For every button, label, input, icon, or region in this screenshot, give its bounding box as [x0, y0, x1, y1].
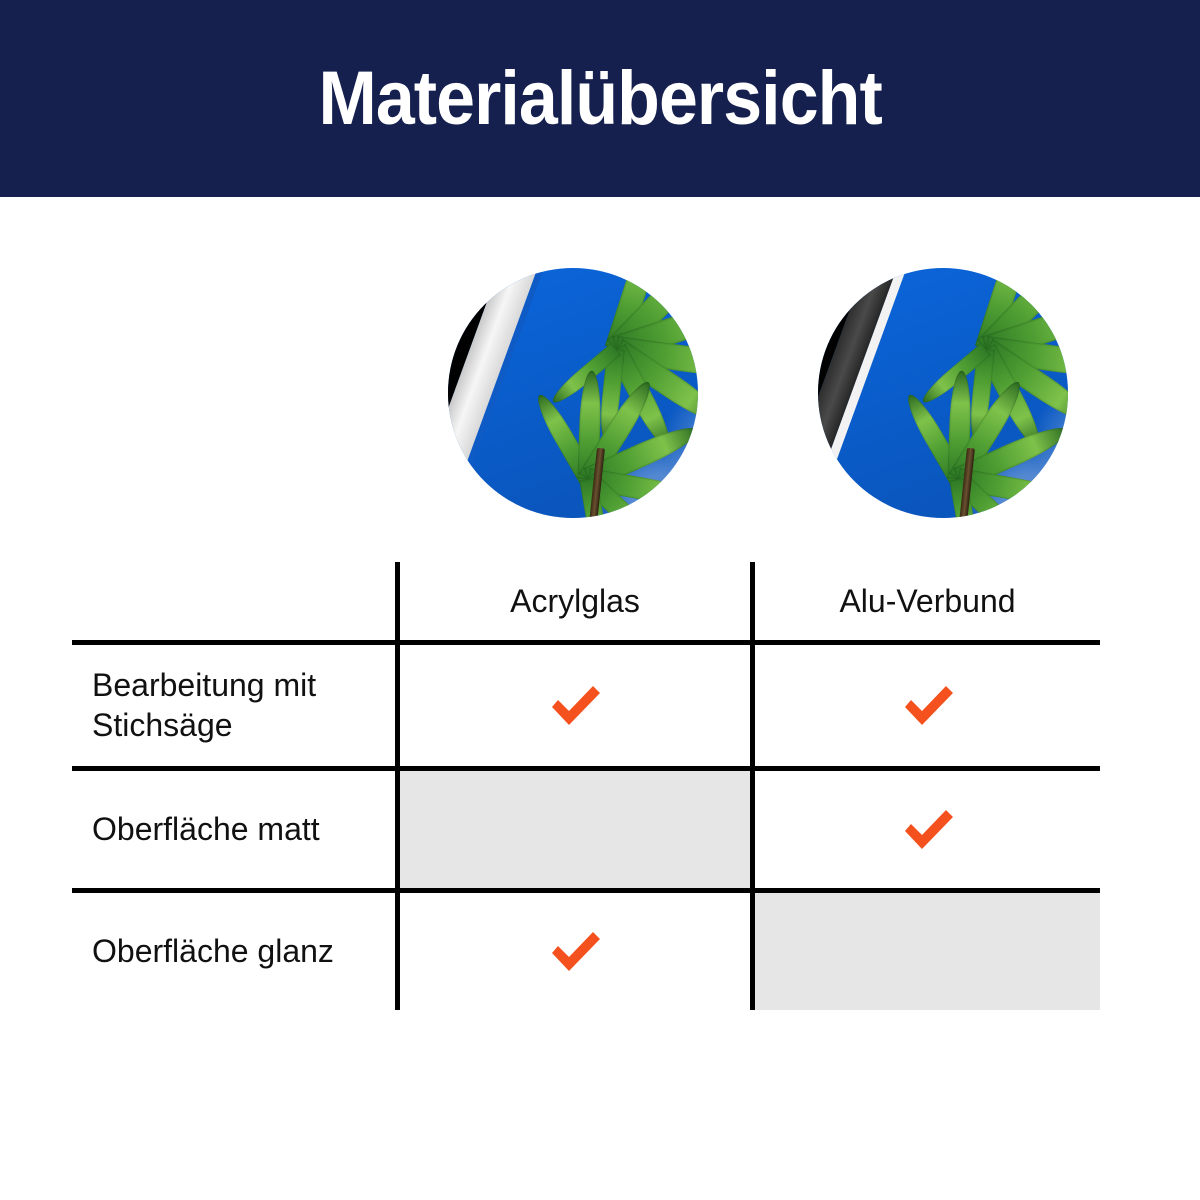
material-overview-page: Materialübersicht: [0, 0, 1200, 1200]
alu-verbund-thumbnail: [818, 268, 1068, 518]
acrylglas-artwork: [448, 268, 698, 518]
cell-oberflaeche-glanz-alu-verbund: [755, 893, 1100, 1010]
row-label-bearbeitung-mit-stichsaege: Bearbeitung mit Stichsäge: [72, 645, 395, 766]
row-label-text: Oberfläche matt: [92, 810, 320, 849]
row-label-oberflaeche-glanz: Oberfläche glanz: [72, 893, 395, 1010]
row-label-line-1: Bearbeitung mit: [92, 666, 316, 705]
column-header-label: Acrylglas: [510, 583, 640, 620]
palm-crown-lower: [863, 403, 1053, 518]
row-label-text: Oberfläche glanz: [92, 932, 334, 971]
palm-crown-upper: [518, 273, 698, 403]
check-mark-icon: [544, 927, 606, 977]
cell-bearbeitung-alu-verbund: [755, 645, 1100, 766]
acrylglas-thumbnail: [448, 268, 698, 518]
check-mark-icon: [544, 681, 606, 731]
row-label-line-2: Stichsäge: [92, 706, 316, 745]
row-label-line-1: Oberfläche glanz: [92, 932, 334, 971]
cell-oberflaeche-matt-alu-verbund: [755, 771, 1100, 888]
row-label-oberflaeche-matt: Oberfläche matt: [72, 771, 395, 888]
column-header-alu-verbund: Alu-Verbund: [755, 562, 1100, 640]
check-mark-icon: [897, 805, 959, 855]
column-header-acrylglas: Acrylglas: [400, 562, 750, 640]
cell-oberflaeche-glanz-acrylglas: [400, 893, 750, 1010]
check-mark-icon: [897, 681, 959, 731]
row-label-line-1: Oberfläche matt: [92, 810, 320, 849]
palm-crown-upper: [888, 273, 1068, 403]
row-label-text: Bearbeitung mit Stichsäge: [92, 666, 316, 744]
alu-verbund-artwork: [818, 268, 1068, 518]
material-comparison-table: Acrylglas Alu-Verbund Bearbeitung mit St…: [72, 562, 1100, 1010]
column-header-label: Alu-Verbund: [839, 583, 1015, 620]
palm-crown-lower: [493, 403, 683, 518]
cell-oberflaeche-matt-acrylglas: [400, 771, 750, 888]
cell-bearbeitung-acrylglas: [400, 645, 750, 766]
